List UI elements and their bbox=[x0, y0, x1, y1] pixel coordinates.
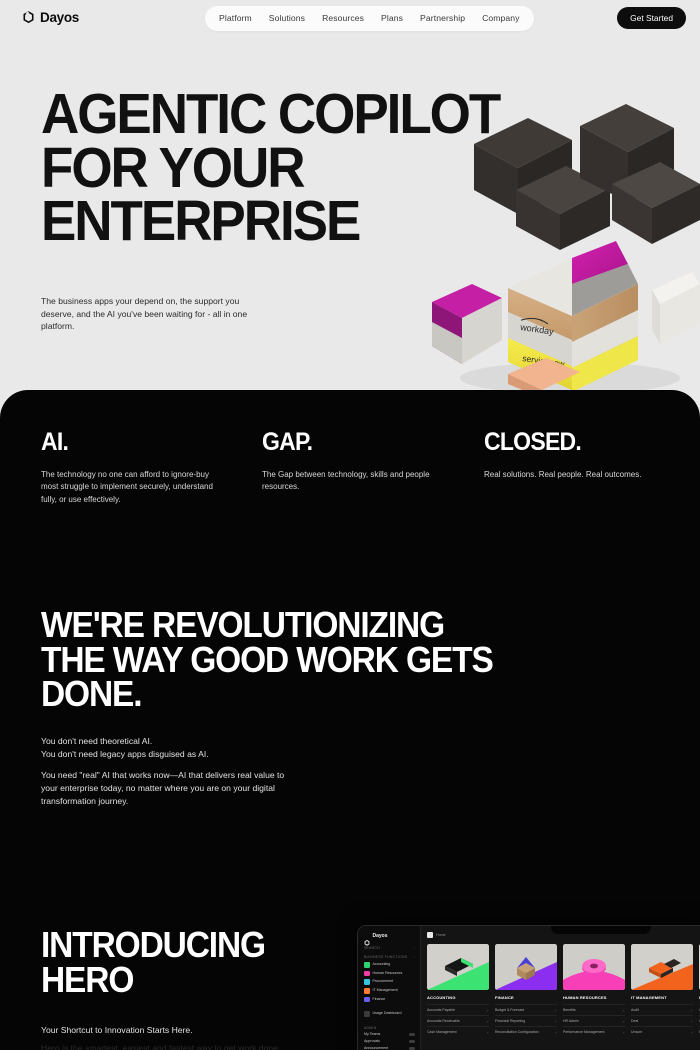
chevron-down-icon: › bbox=[414, 955, 416, 959]
module-swatch-icon bbox=[364, 997, 370, 1003]
product-dashboard-mockup: Dayos Search › Business Functions › Acco… bbox=[357, 925, 700, 1050]
sidebar-item-usage-dashboard[interactable]: Usage Dashboard bbox=[364, 1011, 415, 1017]
dashboard-section-modules[interactable]: Business Functions › bbox=[364, 955, 415, 959]
card-image bbox=[427, 944, 489, 990]
revolution-paragraph-1-line-2: You don't need legacy apps disguised as … bbox=[41, 749, 209, 759]
dashboard-section-admin: Admin bbox=[364, 1026, 415, 1030]
plus-icon: + bbox=[623, 1008, 625, 1013]
sidebar-item-label: Human Resources bbox=[373, 972, 403, 976]
introducing-headline: INTRODUCING HERO bbox=[41, 928, 265, 997]
card-title: IT MANAGEMENT bbox=[631, 995, 693, 1000]
card-list-item[interactable]: Unsure+ bbox=[631, 1026, 693, 1037]
module-card[interactable]: FINANCE Budget & Forecast+ Financial Rep… bbox=[495, 944, 557, 1038]
nav-item-company[interactable]: Company bbox=[482, 14, 519, 23]
sidebar-item-label: Accounting bbox=[373, 963, 391, 967]
module-swatch-icon bbox=[364, 971, 370, 977]
introducing-subtitle: Your Shortcut to Innovation Starts Here. bbox=[41, 1024, 193, 1037]
card-list-item-label: Financial Reporting bbox=[495, 1019, 525, 1023]
card-title: HUMAN RESOURCES bbox=[563, 995, 625, 1000]
module-card-grid: ACCOUNTING Accounts Payable+ Accounts Re… bbox=[427, 944, 700, 1038]
card-list-item[interactable]: Reconciliation Configuration+ bbox=[495, 1026, 557, 1037]
gauge-icon bbox=[364, 1011, 370, 1017]
value-heading-ai: AI. bbox=[41, 430, 211, 455]
card-list-item[interactable]: Benefits+ bbox=[563, 1004, 625, 1015]
value-body-gap: The Gap between technology, skills and p… bbox=[262, 469, 442, 494]
card-list-item-label: Accounts Receivable bbox=[427, 1019, 460, 1023]
revolution-headline: WE'RE REVOLUTIONIZING THE WAY GOOD WORK … bbox=[41, 608, 493, 712]
card-image bbox=[631, 944, 693, 990]
value-body-ai: The technology no one can afford to igno… bbox=[41, 469, 226, 506]
card-list-item-label: Reconciliation Configuration bbox=[495, 1030, 539, 1034]
module-card[interactable]: HUMAN RESOURCES Benefits+ HR Admin+ Perf… bbox=[563, 944, 625, 1038]
card-image bbox=[563, 944, 625, 990]
nav-item-solutions[interactable]: Solutions bbox=[269, 14, 305, 23]
card-list-item-label: Benefits bbox=[563, 1008, 576, 1012]
plus-icon: + bbox=[691, 1019, 693, 1024]
value-heading-closed: CLOSED. bbox=[484, 430, 640, 455]
breadcrumb[interactable]: Home bbox=[436, 933, 446, 937]
dashboard-brand-logo[interactable]: Dayos bbox=[364, 933, 415, 939]
plus-icon: + bbox=[623, 1030, 625, 1035]
sidebar-item-label: Approvals bbox=[364, 1040, 380, 1044]
dashboard-main-area: Home ACCOUNTING bbox=[421, 926, 700, 1050]
chevron-down-icon: › bbox=[414, 946, 416, 950]
nav-item-resources[interactable]: Resources bbox=[322, 14, 364, 23]
nav-item-partnership[interactable]: Partnership bbox=[420, 14, 465, 23]
card-list-item[interactable]: Cash Management+ bbox=[427, 1026, 489, 1037]
value-heading-gap: GAP. bbox=[262, 430, 428, 455]
revolution-headline-line-3: DONE. bbox=[41, 673, 141, 714]
card-list-item[interactable]: HR Admin+ bbox=[563, 1015, 625, 1026]
plus-icon: + bbox=[555, 1008, 557, 1013]
revolution-paragraph-1-line-1: You don't need theoretical AI. bbox=[41, 736, 152, 746]
sidebar-item-label: IT Management bbox=[373, 989, 398, 993]
dashboard-section-search-label: Search bbox=[364, 946, 380, 950]
sidebar-item-finance[interactable]: Finance bbox=[364, 997, 415, 1003]
get-started-button[interactable]: Get Started bbox=[617, 7, 686, 29]
hero-subtitle: The business apps your depend on, the su… bbox=[41, 295, 251, 333]
plus-icon: + bbox=[487, 1008, 489, 1013]
value-body-closed: Real solutions. Real people. Real outcom… bbox=[484, 469, 654, 481]
sidebar-item-label: Procurement bbox=[373, 980, 394, 984]
module-swatch-icon bbox=[364, 988, 370, 994]
sidebar-item-procurement[interactable]: Procurement bbox=[364, 979, 415, 985]
card-list-item[interactable]: Accounts Receivable+ bbox=[427, 1015, 489, 1026]
brand-name: Dayos bbox=[40, 11, 79, 25]
hero-headline-line-3: ENTERPRISE bbox=[41, 189, 359, 253]
introducing-headline-line-2: HERO bbox=[41, 959, 133, 1000]
card-list-item-label: Accounts Payable bbox=[427, 1008, 455, 1012]
sidebar-item-human-resources[interactable]: Human Resources bbox=[364, 971, 415, 977]
plus-icon: + bbox=[487, 1030, 489, 1035]
hero-section: workday servicenow bbox=[0, 0, 700, 395]
card-list-item[interactable]: Deal+ bbox=[631, 1015, 693, 1026]
sidebar-item-label: Usage Dashboard bbox=[373, 1012, 402, 1016]
dashboard-section-search[interactable]: Search › bbox=[364, 946, 415, 950]
hero-headline: AGENTIC COPILOT FOR YOUR ENTERPRISE bbox=[41, 88, 499, 249]
dashboard-section-modules-label: Business Functions bbox=[364, 955, 407, 959]
dashboard-sidebar: Dayos Search › Business Functions › Acco… bbox=[358, 926, 421, 1050]
card-title: ACCOUNTING bbox=[427, 995, 489, 1000]
plus-icon: + bbox=[555, 1030, 557, 1035]
card-list-item[interactable]: Budget & Forecast+ bbox=[495, 1004, 557, 1015]
plus-icon: + bbox=[691, 1008, 693, 1013]
revolution-paragraph-1: You don't need theoretical AI. You don't… bbox=[41, 735, 209, 761]
plus-icon: + bbox=[623, 1019, 625, 1024]
card-list-item-label: Cash Management bbox=[427, 1030, 457, 1034]
main-nav: Platform Solutions Resources Plans Partn… bbox=[205, 6, 534, 31]
sidebar-item-my-teams[interactable]: My Teams bbox=[364, 1033, 415, 1037]
dayos-hexagon-icon bbox=[364, 933, 370, 939]
card-list-item-label: Audit bbox=[631, 1008, 639, 1012]
card-list-item-label: Deal bbox=[631, 1019, 638, 1023]
card-list-item-label: Performance Management bbox=[563, 1030, 604, 1034]
value-column-gap: GAP. The Gap between technology, skills … bbox=[262, 430, 442, 494]
card-image bbox=[495, 944, 557, 990]
toggle-switch[interactable] bbox=[409, 1033, 415, 1036]
landing-page: Dayos Platform Solutions Resources Plans… bbox=[0, 0, 700, 1050]
sidebar-item-label: Finance bbox=[373, 998, 386, 1002]
toggle-switch[interactable] bbox=[409, 1040, 415, 1043]
plus-icon: + bbox=[487, 1019, 489, 1024]
card-title: FINANCE bbox=[495, 995, 557, 1000]
module-swatch-icon bbox=[364, 962, 370, 968]
device-notch bbox=[551, 925, 651, 934]
value-column-ai: AI. The technology no one can afford to … bbox=[41, 430, 226, 506]
site-header: Dayos Platform Solutions Resources Plans… bbox=[0, 0, 700, 38]
sidebar-item-it-management[interactable]: IT Management bbox=[364, 988, 415, 994]
sidebar-item-accounting[interactable]: Accounting bbox=[364, 962, 415, 968]
revolution-paragraph-2: You need "real" AI that works now—AI tha… bbox=[41, 769, 291, 808]
sidebar-item-label: My Teams bbox=[364, 1033, 380, 1037]
dashboard-brand-name: Dayos bbox=[373, 934, 388, 939]
brand-logo[interactable]: Dayos bbox=[22, 11, 79, 25]
module-card[interactable]: ACCOUNTING Accounts Payable+ Accounts Re… bbox=[427, 944, 489, 1038]
module-swatch-icon bbox=[364, 979, 370, 985]
card-list-item[interactable]: Financial Reporting+ bbox=[495, 1015, 557, 1026]
card-list-item[interactable]: Audit+ bbox=[631, 1004, 693, 1015]
introducing-subtitle-secondary: Hero is the smartest, easiest and fastes… bbox=[41, 1042, 280, 1050]
card-list-item-label: Unsure bbox=[631, 1030, 642, 1034]
card-list-item-label: HR Admin bbox=[563, 1019, 579, 1023]
nav-item-platform[interactable]: Platform bbox=[219, 14, 252, 23]
grid-icon[interactable] bbox=[427, 932, 433, 938]
sidebar-item-approvals[interactable]: Approvals bbox=[364, 1040, 415, 1044]
plus-icon: + bbox=[555, 1019, 557, 1024]
value-column-closed: CLOSED. Real solutions. Real people. Rea… bbox=[484, 430, 654, 481]
card-list-item[interactable]: Performance Management+ bbox=[563, 1026, 625, 1037]
dashboard-section-admin-label: Admin bbox=[364, 1026, 376, 1030]
dayos-hexagon-icon bbox=[22, 11, 35, 24]
nav-item-plans[interactable]: Plans bbox=[381, 14, 403, 23]
card-list-item[interactable]: Accounts Payable+ bbox=[427, 1004, 489, 1015]
module-card[interactable]: IT MANAGEMENT Audit+ Deal+ Unsure+ bbox=[631, 944, 693, 1038]
plus-icon: + bbox=[691, 1030, 693, 1035]
card-list-item-label: Budget & Forecast bbox=[495, 1008, 524, 1012]
